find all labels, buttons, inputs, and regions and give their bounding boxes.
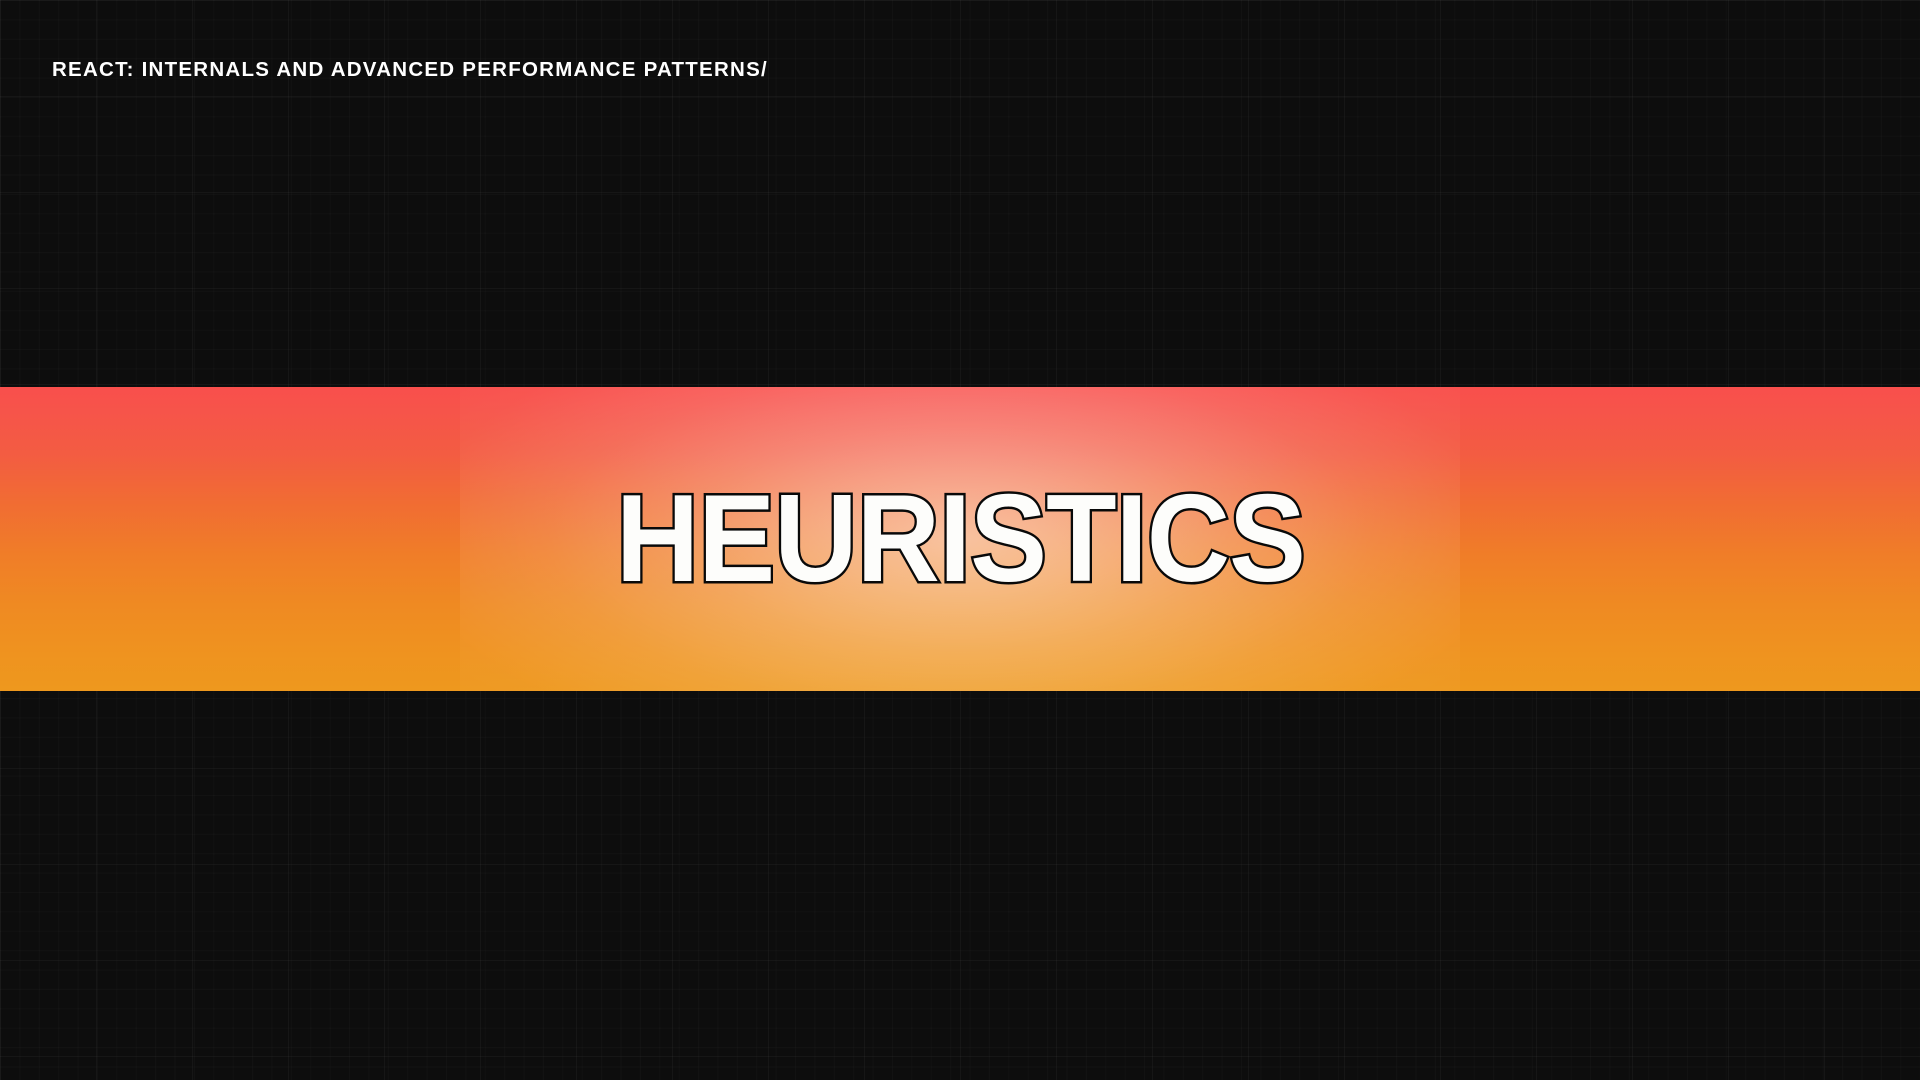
presentation-slide: REACT: INTERNALS AND ADVANCED PERFORMANC…	[0, 0, 1920, 1080]
headline-container: HEURISTICS	[0, 477, 1920, 601]
title-banner: HEURISTICS	[0, 387, 1920, 691]
deck-title: REACT: INTERNALS AND ADVANCED PERFORMANC…	[52, 58, 768, 83]
slide-headline: HEURISTICS	[615, 477, 1304, 601]
